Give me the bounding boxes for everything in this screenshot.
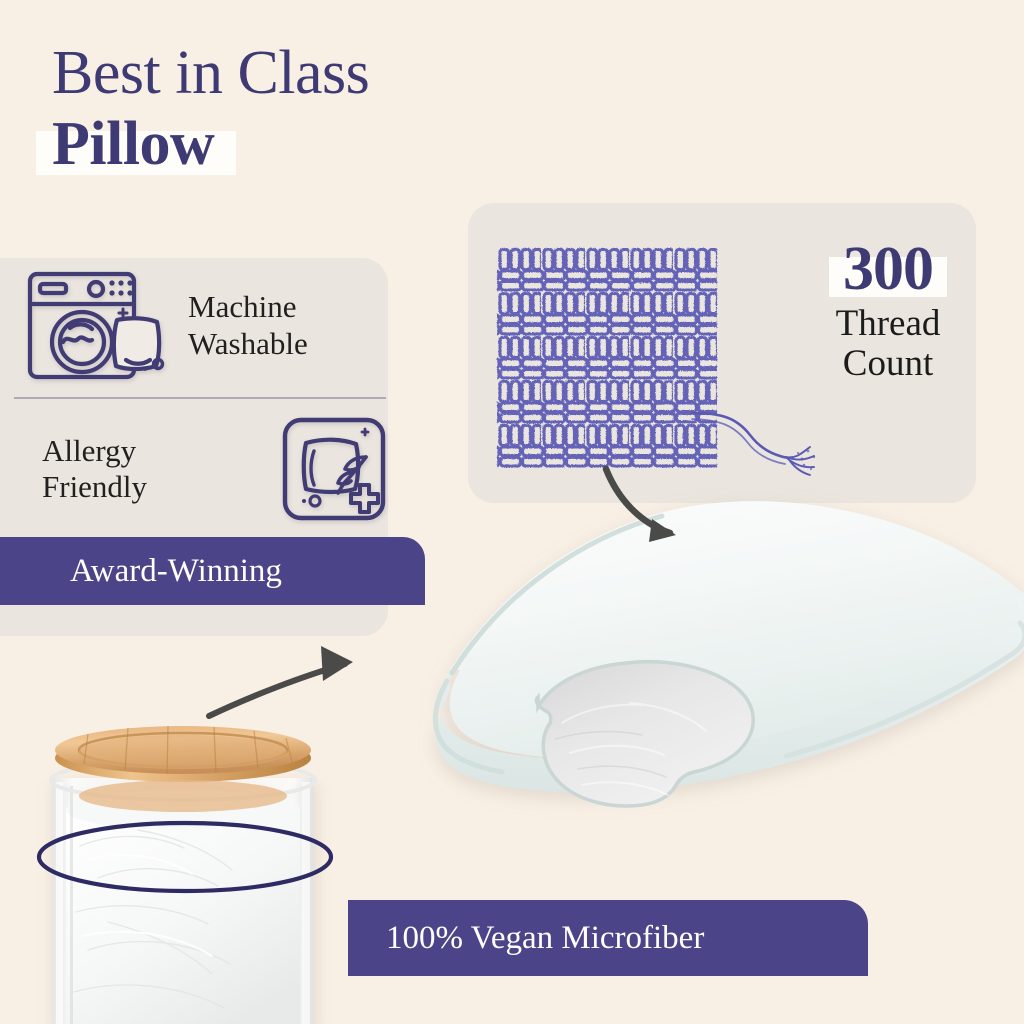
feature-divider	[14, 397, 386, 399]
thread-count-number-wrapper: 300	[843, 238, 933, 300]
feature-machine-washable: Machine Washable	[18, 268, 388, 383]
page-title: Best in Class Pillow	[52, 42, 572, 177]
feature-label-line-2: Washable	[188, 326, 308, 361]
thread-count-block: 300 Thread Count	[800, 238, 976, 384]
headline-line-1: Best in Class	[52, 42, 572, 106]
thread-count-number: 300	[843, 235, 933, 303]
vegan-microfiber-label: 100% Vegan Microfiber	[386, 920, 704, 957]
feature-label-line-1: Allergy	[42, 433, 136, 468]
arrow-weave-to-pillow	[600, 465, 740, 555]
thread-count-label: Thread Count	[800, 304, 976, 384]
headline-line-2: Pillow	[52, 110, 214, 178]
thread-count-label-line-1: Thread	[836, 303, 941, 344]
feature-machine-washable-label: Machine Washable	[188, 289, 308, 362]
headline-line-2-wrapper: Pillow	[52, 112, 214, 177]
washing-machine-icon	[18, 268, 178, 383]
feature-label-line-1: Machine	[188, 289, 296, 324]
award-winning-label: Award-Winning	[70, 553, 282, 590]
vegan-microfiber-banner: 100% Vegan Microfiber	[348, 900, 868, 976]
feature-label-line-2: Friendly	[42, 469, 147, 504]
woven-fabric-swatch	[497, 248, 717, 468]
thread-count-label-line-2: Count	[843, 343, 933, 384]
feature-allergy-friendly-label: Allergy Friendly	[18, 433, 266, 506]
jar-highlight-ring	[22, 815, 352, 905]
infographic-canvas: Best in Class Pillow	[0, 0, 1024, 1024]
